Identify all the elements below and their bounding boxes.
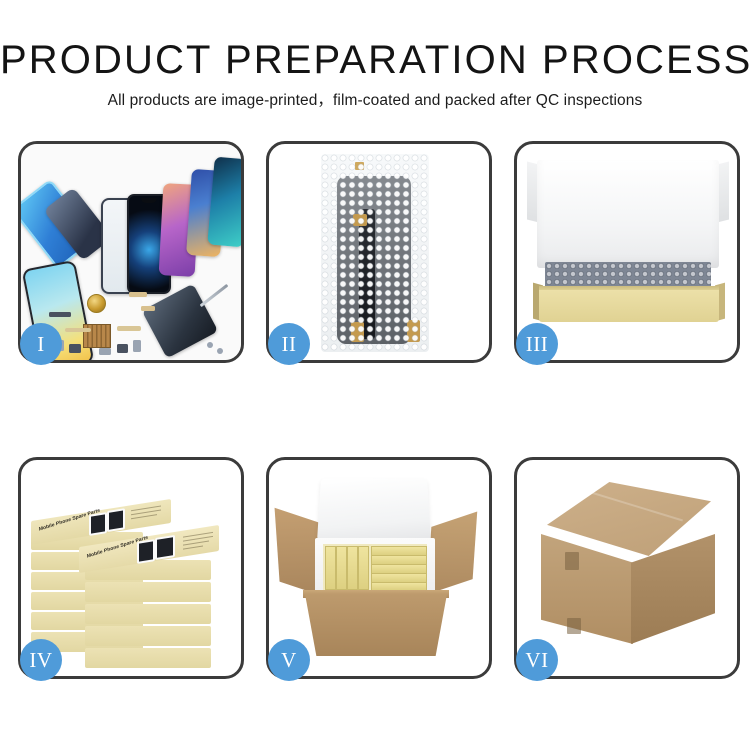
button-part bbox=[133, 340, 141, 352]
carton-tape-lower bbox=[567, 618, 581, 634]
box-phone-image bbox=[89, 512, 107, 536]
box-stack: Mobile Phone Spare Parts Mobile Phone Sp… bbox=[27, 474, 237, 664]
carton-body bbox=[305, 594, 447, 656]
white-foam-sheet bbox=[537, 160, 719, 268]
box-front-wall bbox=[539, 290, 719, 322]
stacked-box bbox=[85, 604, 211, 624]
step-badge-2: II bbox=[268, 323, 310, 365]
yellow-box bbox=[325, 546, 336, 590]
step-badge-4: IV bbox=[20, 639, 62, 681]
bracket-part bbox=[69, 344, 81, 353]
yellow-box bbox=[371, 582, 427, 590]
yellow-box bbox=[358, 546, 369, 590]
box-phone-image bbox=[107, 508, 125, 532]
sensor-flex-part bbox=[141, 306, 155, 311]
step-badge-3: III bbox=[516, 323, 558, 365]
carton-tape-upper bbox=[565, 552, 579, 570]
box-spec-line bbox=[131, 514, 157, 519]
box-phone-image bbox=[155, 535, 175, 560]
box-phone-image bbox=[137, 539, 155, 564]
ribbon-cable-part bbox=[65, 328, 91, 332]
step-badge-1: I bbox=[20, 323, 62, 365]
yellow-box bbox=[336, 546, 347, 590]
vibrator-part bbox=[99, 348, 111, 355]
bubble-texture bbox=[321, 154, 429, 352]
display-flex-part bbox=[117, 326, 141, 331]
screw-part bbox=[207, 342, 213, 348]
yellow-boxes-group bbox=[323, 544, 427, 590]
stacked-box bbox=[85, 648, 211, 668]
process-step-grid: I II III bbox=[0, 0, 750, 750]
camera-part bbox=[117, 344, 128, 353]
connector-part bbox=[49, 312, 71, 317]
yellow-box bbox=[347, 546, 358, 590]
stacked-box bbox=[85, 582, 211, 602]
box-spec-line bbox=[183, 545, 203, 549]
foam-lid bbox=[317, 478, 431, 542]
antenna-flex-part bbox=[129, 292, 147, 297]
bubble-wrap-bag bbox=[321, 154, 429, 352]
screw-part bbox=[217, 348, 223, 354]
stacked-box bbox=[85, 626, 211, 646]
step-badge-6: VI bbox=[516, 639, 558, 681]
step-badge-5: V bbox=[268, 639, 310, 681]
box-spec-line bbox=[183, 540, 209, 545]
carton-front-face bbox=[541, 534, 633, 644]
speaker-coil-part bbox=[87, 294, 106, 313]
